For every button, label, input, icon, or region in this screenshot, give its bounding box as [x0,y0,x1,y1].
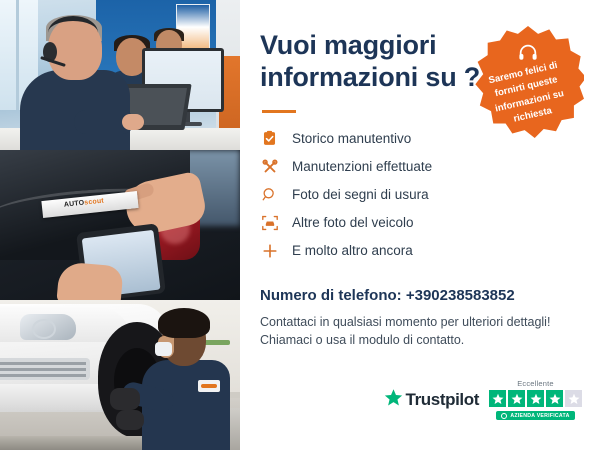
phone-number-line: Numero di telefono: +390238583852 [260,287,574,304]
magnifier-icon [260,185,279,204]
star-rating [489,390,582,407]
star-filled [508,390,525,407]
photo-gallery: AUTOscout [0,0,240,450]
trustpilot-rating: Eccellente AZIENDA VERIFICATA [489,379,582,420]
feature-label: Manutenzioni effettuate [292,159,432,174]
mechanic-wheel-photo [0,300,240,450]
feature-item-foto-segni-usura: Foto dei segni di usura [260,181,574,209]
headline-line-2: informazioni su ? [260,62,480,92]
headline-line-1: Vuoi maggiori [260,30,436,60]
clipboard-check-icon [260,129,279,148]
tools-cross-icon [260,157,279,176]
star-partial [565,390,582,407]
strip-logo-text: AUTOscout [64,198,105,209]
feature-label: Foto dei segni di usura [292,187,429,202]
call-center-agents-photo [0,0,240,150]
contact-line-1: Contattaci in qualsiasi momento per ulte… [260,313,574,331]
vehicle-lift [0,436,150,450]
verified-company-badge: AZIENDA VERIFICATA [496,411,574,420]
promo-banner: AUTOscout [0,0,600,450]
feature-item-molto-altro: E molto altro ancora [260,237,574,265]
phone-label: Numero di telefono: [260,287,402,304]
trustpilot-star-icon [384,388,403,412]
car-headlight [20,314,76,340]
car-grille [0,358,90,380]
feature-label: Altre foto del veicolo [292,215,414,230]
star-filled [546,390,563,407]
feature-label: E molto altro ancora [292,243,413,258]
feature-list: Storico manutentivo Manutenzioni effettu… [260,125,574,265]
trustpilot-brand: Trustpilot [406,390,479,410]
feature-label: Storico manutentivo [292,131,411,146]
mechanic-worker [140,310,232,450]
check-circle-icon [501,413,507,419]
info-panel: Vuoi maggiori informazioni su ? Storico … [240,0,600,450]
rating-label: Eccellente [517,379,554,388]
feature-item-altre-foto-veicolo: Altre foto del veicolo [260,209,574,237]
contact-instructions: Contattaci in qualsiasi momento per ulte… [260,313,574,349]
vehicle-inspection-photo: AUTOscout [0,150,240,300]
plus-icon [260,241,279,260]
trustpilot-widget[interactable]: Trustpilot Eccellente AZIENDA VERIFICATA [384,379,582,420]
feature-item-manutenzioni-effettuate: Manutenzioni effettuate [260,153,574,181]
technician-hand-lower [56,261,123,300]
title-divider [262,110,296,113]
foreground-agent [18,18,130,150]
page-title: Vuoi maggiori informazioni su ? [260,30,490,94]
trustpilot-logo: Trustpilot [384,388,479,412]
contact-line-2: Chiamaci o usa il modulo di contatto. [260,331,574,349]
star-filled [489,390,506,407]
phone-number[interactable]: +390238583852 [406,287,515,304]
star-filled [527,390,544,407]
callout-burst-badge: Saremo felici di fornirti queste informa… [472,26,584,138]
car-scan-frame-icon [260,213,279,232]
verified-badge-text: AZIENDA VERIFICATA [510,413,569,419]
